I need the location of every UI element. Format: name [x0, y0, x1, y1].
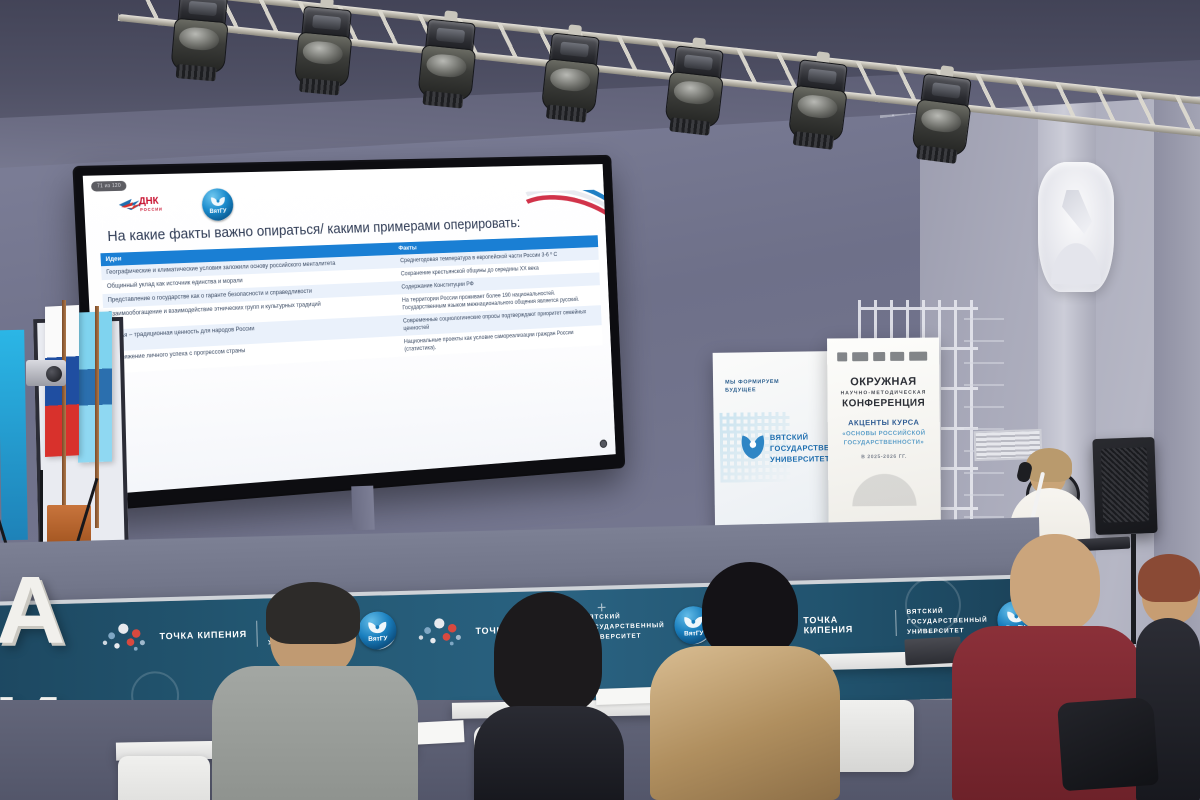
moving-head-light [168, 0, 230, 92]
light-vents [299, 77, 340, 95]
chair [828, 700, 914, 800]
partner-logo [837, 352, 847, 361]
light-vents [176, 64, 217, 81]
person-shawl [650, 646, 840, 800]
speaker-hair [1026, 448, 1072, 482]
slide: 71 из 120 ДНК РОССИИ [83, 164, 616, 495]
tochka-kipeniya-icon [413, 614, 466, 649]
person-hair [702, 562, 798, 658]
partner-logo [909, 351, 927, 360]
wall-relief-ornament [1038, 162, 1114, 292]
chair-backrest [118, 756, 210, 800]
moving-head-light [414, 18, 477, 119]
chair-backrest [828, 700, 914, 772]
audience-person [468, 598, 628, 800]
vyatgu-bird-mark-icon [209, 195, 226, 207]
light-vents [669, 118, 710, 137]
molecule-icon [413, 614, 466, 649]
person-head [1010, 534, 1100, 632]
presentation-screen: 71 из 120 ДНК РОССИИ [74, 157, 623, 510]
molecule-icon [97, 620, 150, 655]
video-camera [26, 360, 66, 386]
light-vents [422, 91, 463, 109]
person-hair [266, 582, 360, 644]
vyatgu-leaf-logo-icon [740, 430, 766, 460]
slide-logos: ДНК РОССИИ [117, 188, 234, 224]
moving-head-light [661, 45, 726, 147]
person-hair [1138, 554, 1200, 602]
flag-pole [95, 306, 99, 528]
screen-wall-mount [351, 486, 375, 531]
conference-title-line2: НАУЧНО-МЕТОДИЧЕСКАЯ [827, 390, 939, 397]
glass-partition [964, 300, 1004, 540]
audience-person [650, 568, 840, 800]
vyatgu-logo-icon [201, 188, 234, 221]
banner-artwork [842, 434, 927, 507]
floor-letter-a: А [0, 570, 65, 652]
banner-slogan-line2: БУДУЩЕЕ [725, 386, 779, 395]
moving-head-light [291, 5, 354, 106]
conference-title-line1: ОКРУЖНАЯ [827, 376, 939, 389]
table-body: Географические и климатические условия з… [101, 247, 603, 374]
partner-logo [890, 351, 904, 360]
slide-corner-control-icon[interactable] [600, 439, 608, 448]
chair [118, 756, 210, 800]
banner-partner-logos [837, 350, 931, 363]
bag [1057, 697, 1159, 791]
dnk-sublabel: РОССИИ [140, 206, 163, 212]
partner-logo [852, 352, 868, 361]
partner-logo [873, 351, 885, 360]
banner-slogan: МЫ ФОРМИРУЕМ БУДУЩЕЕ [725, 378, 779, 395]
person-hair [494, 592, 602, 714]
pa-speaker [1092, 437, 1157, 535]
person-body [474, 706, 624, 800]
slide-table: Идеи Факты Географические и климатически… [100, 235, 602, 374]
moving-head-light [538, 32, 602, 133]
tochka-kipeniya-icon [97, 620, 150, 655]
barrier-divider [896, 610, 898, 636]
banner-university: МЫ ФОРМИРУЕМ БУДУЩЕЕ ВЯТСКИЙ ГОСУДАРСТВЕ… [713, 351, 834, 549]
dnk-rossii-icon: ДНК РОССИИ [117, 192, 176, 221]
conference-hall-photo: 71 из 120 ДНК РОССИИ [0, 0, 1200, 800]
conference-subtitle-line1: АКЦЕНТЫ КУРСА [828, 418, 940, 428]
dnk-label: ДНК [139, 196, 159, 206]
conference-title-line3: КОНФЕРЕНЦИЯ [828, 398, 940, 410]
screen-surface: 71 из 120 ДНК РОССИИ [83, 164, 616, 495]
camera-lens-icon [46, 366, 62, 382]
person-body [212, 666, 418, 800]
audience-person [212, 586, 418, 800]
